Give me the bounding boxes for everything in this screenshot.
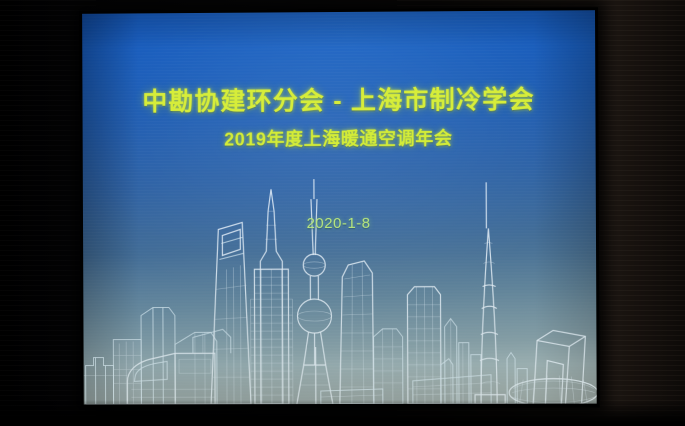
floor-shadow: [0, 400, 685, 426]
slide-subtitle: 2019年度上海暖通空调年会: [83, 123, 596, 152]
slide-surface: 中勘协建环分会 - 上海市制冷学会 2019年度上海暖通空调年会 2020-1-…: [82, 10, 597, 404]
photo-of-conference-slide: 中勘协建环分会 - 上海市制冷学会 2019年度上海暖通空调年会 2020-1-…: [0, 0, 685, 426]
slide-date: 2020-1-8: [83, 214, 596, 233]
slide-title: 中勘协建环分会 - 上海市制冷学会: [82, 84, 595, 117]
city-skyline-illustration: [83, 168, 597, 405]
slide-headline-group: 中勘协建环分会 - 上海市制冷学会 2019年度上海暖通空调年会: [82, 84, 595, 151]
skyline-svg: [83, 168, 597, 405]
projection-screen: 中勘协建环分会 - 上海市制冷学会 2019年度上海暖通空调年会 2020-1-…: [82, 10, 597, 404]
